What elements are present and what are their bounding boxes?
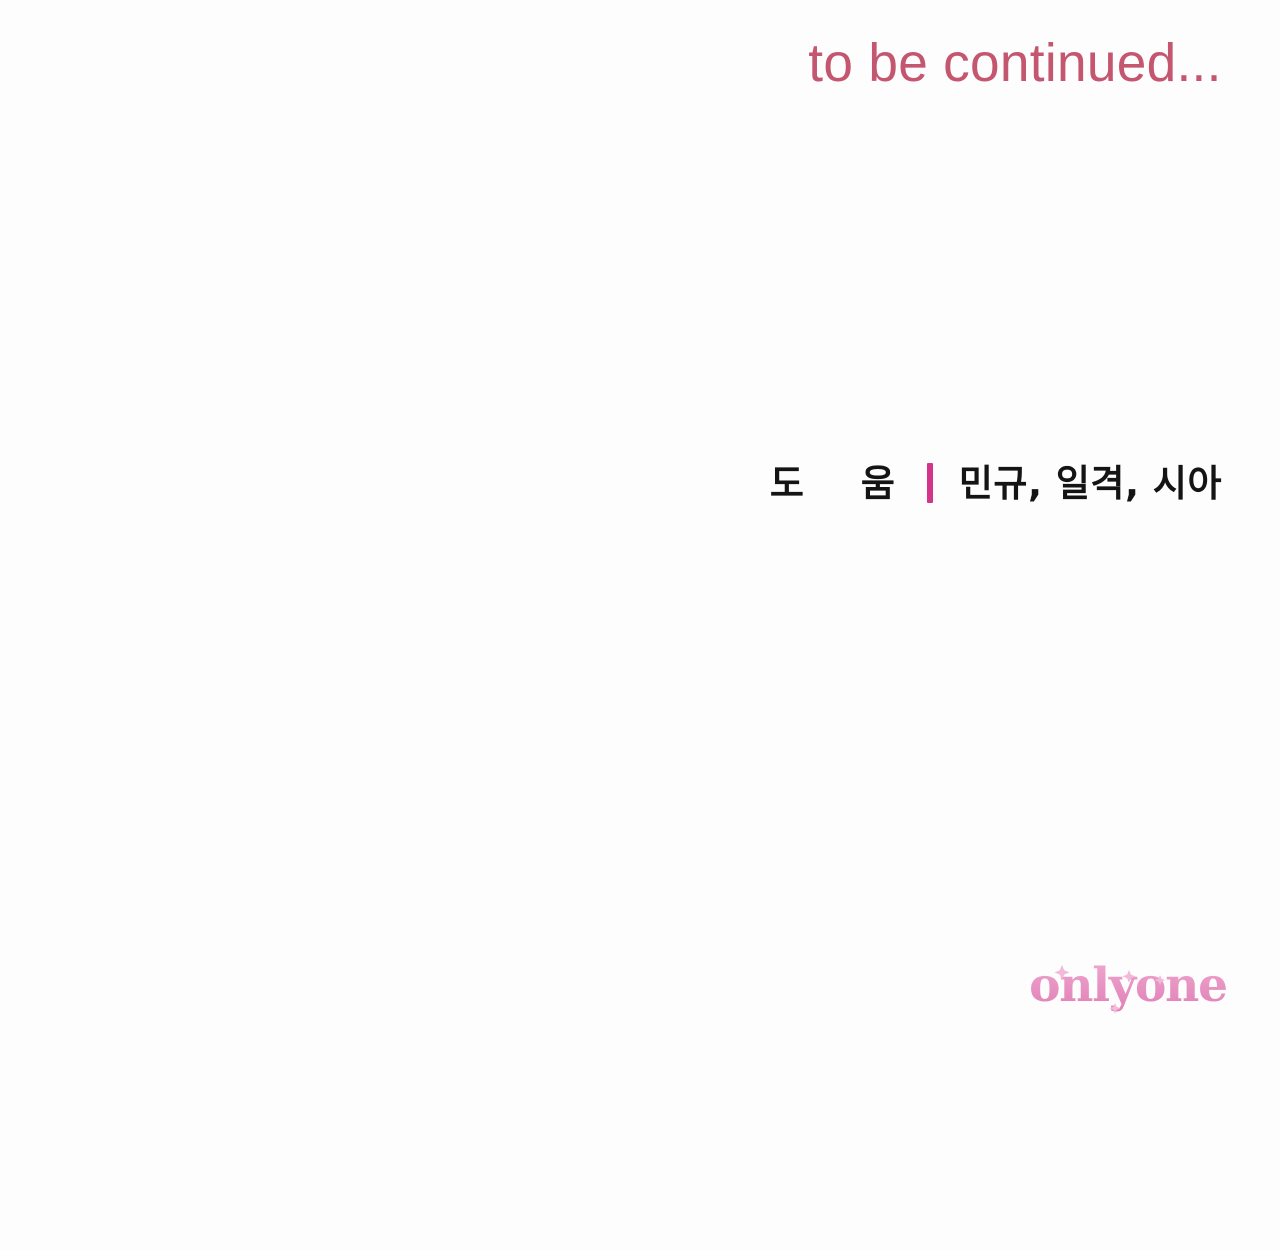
onlyone-logo-text: onlyone	[1029, 958, 1227, 1013]
onlyone-logo: onlyone	[1032, 957, 1224, 1015]
credits-role-label: 도 움	[770, 465, 917, 502]
credits-block: 도 움 민규, 일격, 시아	[0, 463, 1222, 503]
to-be-continued-text: to be continued...	[809, 36, 1222, 90]
to-be-continued-block: to be continued...	[0, 36, 1222, 90]
logo-block: onlyone	[0, 957, 1224, 1017]
comic-panel-page: to be continued... 도 움 민규, 일격, 시아 onlyon…	[0, 0, 1280, 1250]
vertical-bar-divider-icon	[927, 463, 933, 503]
onlyone-logo-svg: onlyone	[1032, 957, 1224, 1015]
credits-names-text: 민규, 일격, 시아	[959, 465, 1222, 502]
credits-row: 도 움 민규, 일격, 시아	[770, 463, 1222, 503]
